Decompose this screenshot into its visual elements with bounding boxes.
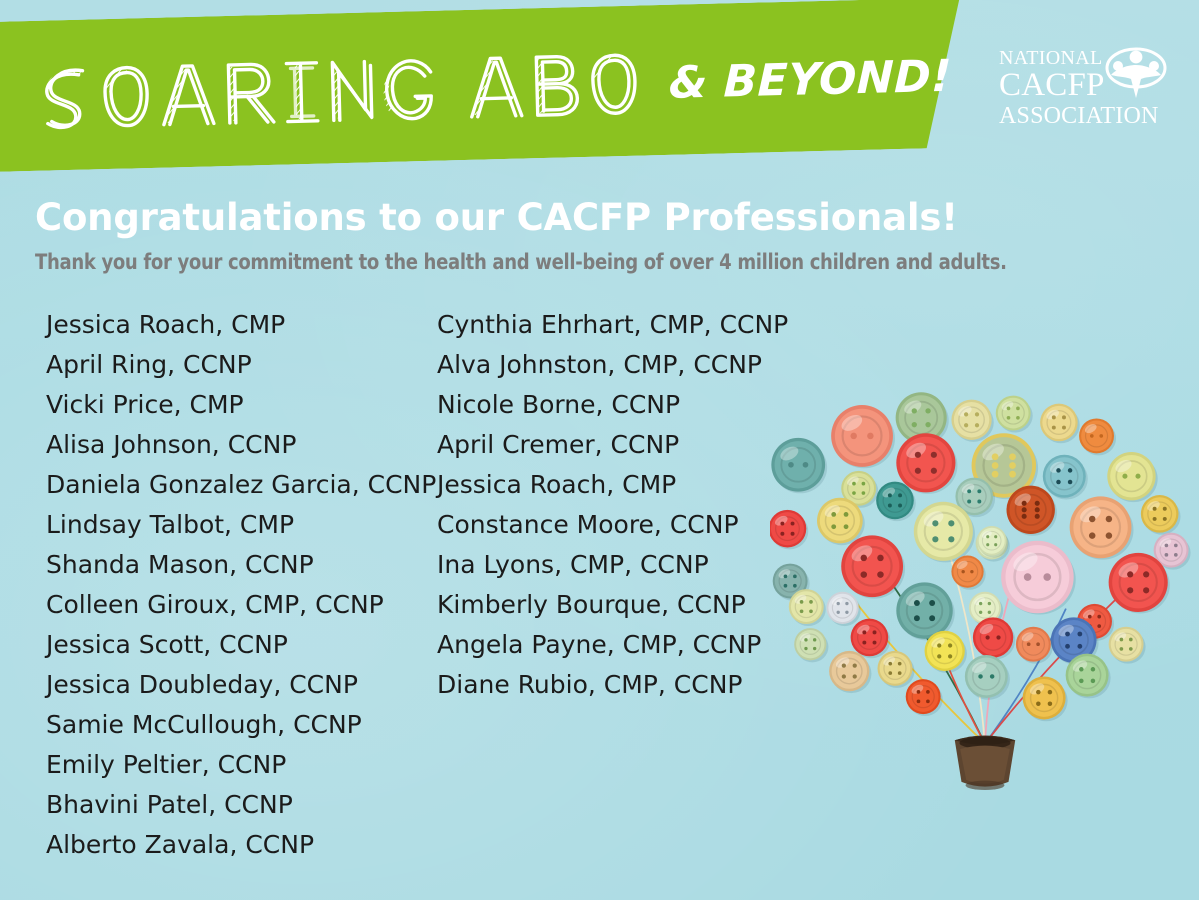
button-hole <box>988 602 991 605</box>
honoree-name: Alisa Johnson, CCNP <box>46 425 436 465</box>
sewing-button <box>951 400 993 442</box>
button-hole <box>1120 638 1124 642</box>
button-hole <box>862 482 866 486</box>
button-hole <box>1062 426 1066 430</box>
page-title: Congratulations to our CACFP Professiona… <box>35 196 958 239</box>
button-hole <box>1122 474 1127 479</box>
button-hole <box>803 462 809 468</box>
button-hole <box>1016 416 1020 420</box>
button-hole <box>994 543 997 546</box>
sewing-button <box>996 396 1033 433</box>
button-hole <box>845 602 848 605</box>
button-hole <box>898 504 902 508</box>
sewing-button <box>925 631 967 673</box>
button-hole <box>1174 544 1178 548</box>
button-hole <box>1153 517 1157 521</box>
button-hole <box>948 536 954 542</box>
button-hole <box>1120 647 1124 651</box>
sewing-button <box>973 617 1015 659</box>
button-hole <box>844 524 849 529</box>
button-hole <box>1016 407 1020 411</box>
button-hole <box>845 611 848 614</box>
button-hole <box>793 584 797 588</box>
button-hole <box>1163 517 1167 521</box>
sewing-button <box>951 556 985 590</box>
button-hole <box>937 643 941 647</box>
button-hole <box>842 674 846 678</box>
button-hole <box>914 615 920 621</box>
honoree-name: Bhavini Patel, CCNP <box>46 785 436 825</box>
button-hole <box>915 468 921 474</box>
button-hole <box>877 571 883 577</box>
button-hole <box>850 433 856 439</box>
button-hole <box>800 609 804 613</box>
button-hole <box>837 602 840 605</box>
button-hole <box>1079 667 1084 672</box>
button-hole <box>996 635 1000 639</box>
honoree-name: Constance Moore, CCNP <box>437 505 788 545</box>
banner-title-beyond: & BEYOND! <box>668 51 952 109</box>
button-hole <box>1079 679 1084 684</box>
button-hole <box>925 422 930 427</box>
button-hole <box>888 671 892 675</box>
button-balloon-illustration <box>770 295 1199 900</box>
honoree-name: Emily Peltier, CCNP <box>46 745 436 785</box>
honoree-name: Daniela Gonzalez Garcia, CCNP <box>46 465 436 505</box>
button-hole <box>1056 480 1061 485</box>
button-hole <box>1127 587 1133 593</box>
button-hole <box>813 647 816 650</box>
button-hole <box>1009 471 1016 478</box>
button-hole <box>784 574 788 578</box>
button-hole <box>988 611 991 614</box>
button-hole <box>1129 638 1133 642</box>
honoree-name: Lindsay Talbot, CMP <box>46 505 436 545</box>
button-hole <box>853 674 857 678</box>
honoree-name: Samie McCullough, CCNP <box>46 705 436 745</box>
button-hole <box>873 630 877 634</box>
button-hole <box>994 535 997 538</box>
button-hole <box>1065 632 1070 637</box>
button-hole <box>992 453 999 460</box>
page-subtitle: Thank you for your commitment to the hea… <box>35 250 1007 274</box>
button-hole <box>844 512 849 517</box>
button-hole <box>791 522 795 526</box>
button-hole <box>977 499 981 503</box>
sewing-button <box>1070 496 1134 559</box>
sewing-button <box>1016 627 1053 664</box>
button-hole <box>793 574 797 578</box>
button-hole <box>1153 507 1157 511</box>
honoree-name: Vicki Price, CMP <box>46 385 436 425</box>
honoree-name: Cynthia Ehrhart, CMP, CCNP <box>437 305 788 345</box>
button-hole <box>898 671 902 675</box>
honoree-name: Alva Johnston, CMP, CCNP <box>437 345 788 385</box>
button-hole <box>992 471 999 478</box>
button-hole <box>862 630 866 634</box>
sewing-button <box>826 592 860 626</box>
button-hole <box>932 520 938 526</box>
button-hole <box>898 493 902 497</box>
button-hole <box>877 555 883 561</box>
sewing-button <box>794 628 828 662</box>
sewing-button <box>906 679 943 716</box>
button-hole <box>1099 434 1103 438</box>
honoree-name: Angela Payne, CMP, CCNP <box>437 625 788 665</box>
button-hole <box>1068 468 1073 473</box>
button-hole <box>975 412 979 416</box>
honoree-name: Jessica Doubleday, CCNP <box>46 665 436 705</box>
button-hole <box>1052 415 1056 419</box>
button-hole <box>970 570 973 573</box>
sewing-button <box>965 655 1010 700</box>
button-hole <box>888 504 892 508</box>
nacfp-logo: NATIONAL CACFP ASSOCIATION <box>999 48 1169 140</box>
button-hole <box>1035 501 1040 506</box>
honoree-name: Nicole Borne, CCNP <box>437 385 788 425</box>
button-hole <box>780 522 784 526</box>
button-hole <box>1065 644 1070 649</box>
button-hole <box>967 499 971 503</box>
button-hole <box>986 543 989 546</box>
button-hole <box>861 571 867 577</box>
honoree-name: Diane Rubio, CMP, CCNP <box>437 665 788 705</box>
honoree-list-left: Jessica Roach, CMPApril Ring, CCNPVicki … <box>46 305 436 865</box>
button-hole <box>1106 532 1112 538</box>
button-hole <box>912 422 917 427</box>
button-hole <box>990 674 995 679</box>
button-hole <box>926 690 930 694</box>
button-hole <box>861 555 867 561</box>
button-hole <box>1143 571 1149 577</box>
sewing-button <box>770 510 808 550</box>
sewing-button <box>829 651 871 693</box>
honoree-name: April Cremer, CCNP <box>437 425 788 465</box>
button-hole <box>852 491 856 495</box>
button-hole <box>1022 507 1027 512</box>
button-hole <box>1024 573 1032 581</box>
sewing-button <box>789 589 826 626</box>
button-hole <box>791 532 795 536</box>
button-hole <box>1068 480 1073 485</box>
honoree-name: Shanda Mason, CCNP <box>46 545 436 585</box>
sewing-button <box>1141 495 1181 535</box>
button-hole <box>964 423 968 427</box>
button-hole <box>831 512 836 517</box>
button-hole <box>1127 571 1133 577</box>
button-hole <box>1077 632 1082 637</box>
button-hole <box>917 699 921 703</box>
button-hole <box>964 412 968 416</box>
button-hole <box>862 491 866 495</box>
sewing-button <box>1066 654 1111 699</box>
button-hole <box>1089 516 1095 522</box>
button-hole <box>867 433 873 439</box>
button-hole <box>929 600 935 606</box>
sewing-button <box>896 433 957 494</box>
button-hole <box>948 520 954 526</box>
button-hole <box>932 536 938 542</box>
button-hole <box>929 615 935 621</box>
button-hole <box>804 638 807 641</box>
button-hole <box>1090 434 1094 438</box>
button-hole <box>975 423 979 427</box>
sewing-button <box>1023 676 1068 721</box>
button-hole <box>1036 690 1041 695</box>
logo-line-association: ASSOCIATION <box>999 104 1159 128</box>
button-hole <box>979 611 982 614</box>
button-hole <box>1106 516 1112 522</box>
button-hole <box>961 570 964 573</box>
button-hole <box>1097 615 1101 619</box>
button-hole <box>931 452 937 458</box>
button-hole <box>1165 553 1169 557</box>
button-hole <box>831 524 836 529</box>
button-hole <box>1056 468 1061 473</box>
button-hole <box>837 611 840 614</box>
sewing-button <box>1043 455 1088 500</box>
button-hole <box>1048 701 1053 706</box>
button-hole <box>1091 679 1096 684</box>
button-hole <box>912 408 917 413</box>
button-hole <box>1043 573 1051 581</box>
button-hole <box>977 489 981 493</box>
button-hole <box>804 647 807 650</box>
button-hole <box>979 602 982 605</box>
sewing-button <box>1109 627 1146 664</box>
three-people-oval-icon <box>1105 46 1167 100</box>
button-hole <box>862 641 866 645</box>
button-hole <box>1062 415 1066 419</box>
button-hole <box>888 662 892 666</box>
button-hole <box>852 482 856 486</box>
button-hole <box>925 408 930 413</box>
sewing-button <box>1040 404 1080 444</box>
button-hole <box>1052 426 1056 430</box>
button-hole <box>842 664 846 668</box>
banner-title-soaring-above <box>32 44 644 139</box>
button-hole <box>1036 642 1040 646</box>
honoree-name: Kimberly Bourque, CCNP <box>437 585 788 625</box>
honoree-name: Alberto Zavala, CCNP <box>46 825 436 865</box>
honoree-name: Jessica Roach, CMP <box>437 465 788 505</box>
button-hole <box>1097 624 1101 628</box>
button-hole <box>1143 587 1149 593</box>
button-hole <box>788 462 794 468</box>
button-hole <box>1174 553 1178 557</box>
button-hole <box>784 584 788 588</box>
sewing-button <box>841 535 905 598</box>
honoree-name: Ina Lyons, CMP, CCNP <box>437 545 788 585</box>
button-hole <box>992 462 999 469</box>
button-hole <box>1035 507 1040 512</box>
button-hole <box>888 493 892 497</box>
button-hole <box>1009 462 1016 469</box>
button-hole <box>1022 514 1027 519</box>
button-hole <box>1007 416 1011 420</box>
sewing-button <box>771 438 827 493</box>
button-hole <box>1091 667 1096 672</box>
button-hole <box>914 600 920 606</box>
button-hole <box>948 643 952 647</box>
honoree-name: April Ring, CCNP <box>46 345 436 385</box>
button-hole <box>1048 690 1053 695</box>
button-hole <box>1163 507 1167 511</box>
button-hole <box>809 600 813 604</box>
sewing-button <box>831 405 895 468</box>
button-hole <box>1135 474 1140 479</box>
button-hole <box>948 654 952 658</box>
sewing-button <box>1007 486 1057 536</box>
button-hole <box>917 690 921 694</box>
button-hole <box>978 674 983 679</box>
button-hole <box>986 535 989 538</box>
button-hole <box>873 641 877 645</box>
button-hole <box>780 532 784 536</box>
button-hole <box>813 638 816 641</box>
button-hole <box>800 600 804 604</box>
button-hole <box>926 699 930 703</box>
button-hole <box>986 635 990 639</box>
sewing-button <box>1107 452 1157 502</box>
button-hole <box>915 452 921 458</box>
button-hole <box>1007 407 1011 411</box>
button-hole <box>898 662 902 666</box>
thimble-basket <box>955 736 1015 790</box>
button-hole <box>1077 644 1082 649</box>
sewing-button <box>878 651 915 688</box>
button-hole <box>1088 615 1092 619</box>
button-hole <box>1129 647 1133 651</box>
button-hole <box>1009 453 1016 460</box>
sewing-button <box>1079 418 1116 455</box>
honoree-name: Colleen Giroux, CMP, CCNP <box>46 585 436 625</box>
button-hole <box>967 489 971 493</box>
button-hole <box>853 664 857 668</box>
button-hole <box>1035 514 1040 519</box>
honoree-name: Jessica Roach, CMP <box>46 305 436 345</box>
button-hole <box>1036 701 1041 706</box>
button-hole <box>937 654 941 658</box>
honoree-name: Jessica Scott, CCNP <box>46 625 436 665</box>
button-hole <box>1027 642 1031 646</box>
button-hole <box>931 468 937 474</box>
button-hole <box>809 609 813 613</box>
button-hole <box>1022 501 1027 506</box>
button-hole <box>1089 532 1095 538</box>
honoree-list-right: Cynthia Ehrhart, CMP, CCNPAlva Johnston,… <box>437 305 788 705</box>
button-hole <box>1165 544 1169 548</box>
sewing-button <box>1001 541 1076 615</box>
button-cluster <box>770 392 1191 721</box>
